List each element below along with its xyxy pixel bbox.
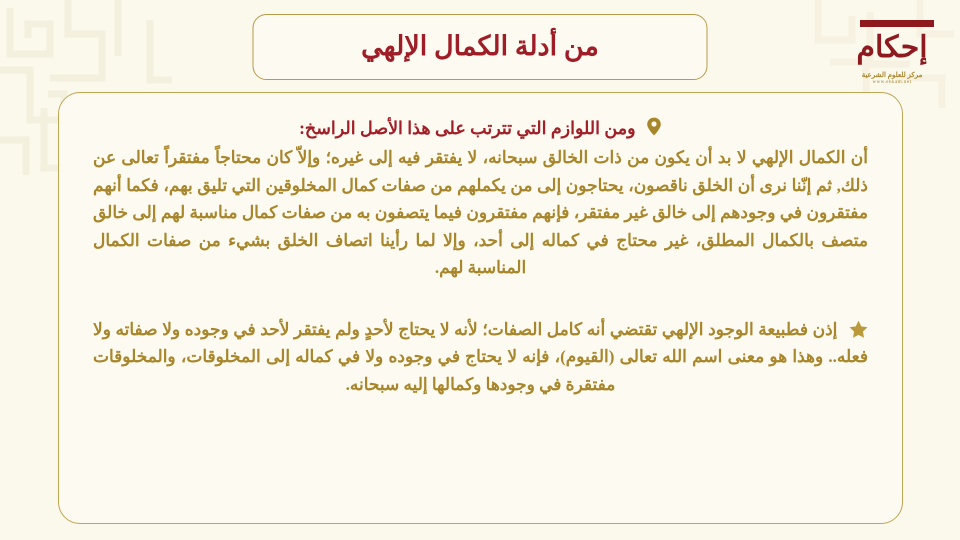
paragraph-one-heading: ومن اللوازم التي تترتب على هذا الأصل الر… [299, 118, 635, 138]
star-icon [849, 320, 868, 339]
brand-logo: إحكام مركز للعلوم الشرعية www.ehkam.net [842, 20, 942, 96]
slide-title-box: من أدلة الكمال الإلهي [253, 14, 708, 80]
content-panel: ومن اللوازم التي تترتب على هذا الأصل الر… [58, 92, 903, 524]
page-title: من أدلة الكمال الإلهي [361, 32, 599, 62]
paragraph-one-body: أن الكمال الإلهي لا بد أن يكون من ذات ال… [93, 144, 868, 282]
paragraph-one: ومن اللوازم التي تترتب على هذا الأصل الر… [93, 115, 868, 282]
logo-url: www.ehkam.net [873, 80, 912, 85]
pin-icon [646, 117, 662, 136]
paragraph-two-body-row: إذن فطبيعة الوجود الإلهي تقتضي أنه كامل … [93, 316, 868, 399]
logo-mark: إحكام [846, 20, 938, 70]
paragraph-two-body: إذن فطبيعة الوجود الإلهي تقتضي أنه كامل … [93, 320, 868, 394]
logo-wordmark: إحكام [846, 26, 938, 70]
paragraph-two: إذن فطبيعة الوجود الإلهي تقتضي أنه كامل … [93, 316, 868, 399]
logo-subtitle: مركز للعلوم الشرعية [862, 71, 923, 79]
paragraph-one-heading-row: ومن اللوازم التي تترتب على هذا الأصل الر… [93, 115, 868, 142]
